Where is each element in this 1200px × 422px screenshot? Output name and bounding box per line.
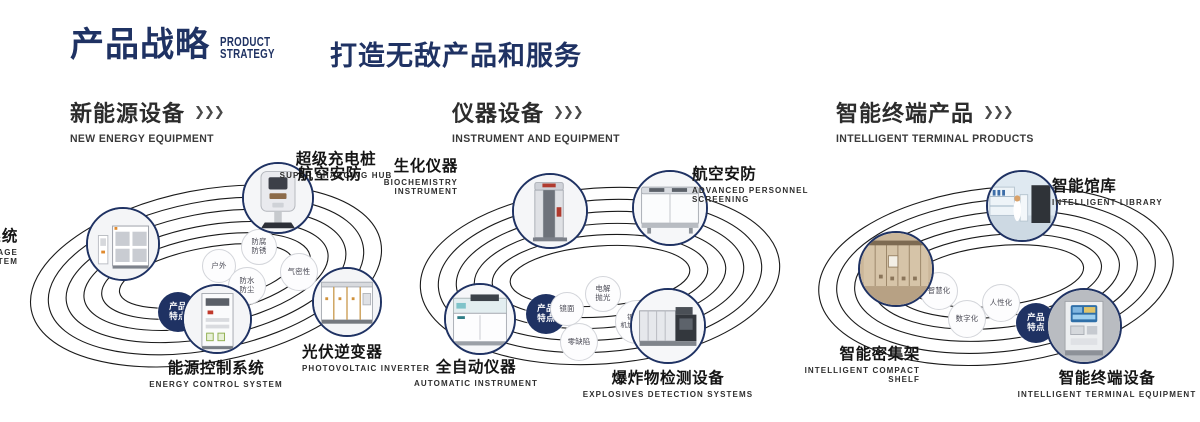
library-interior-icon [988,172,1056,240]
label-automatic-instrument: 全自动仪器 AUTOMATIC INSTRUMENT [391,355,561,388]
compact-shelf-icon [860,233,932,305]
label-explosives-detection-systems: 爆炸物检测设备 EXPLOSIVES DETECTION SYSTEMS [568,366,768,399]
section-title-new-energy: 新能源设备 ❯❯❯ NEW ENERGY EQUIPMENT [70,96,224,145]
node-photovoltaic-inverter[interactable] [312,267,382,337]
section-title-cn: 仪器设备 [452,96,544,128]
feature-bubble-electropolishing: 电解 抛光 [585,276,621,312]
label-intelligent-library: 智能馆库 INTELLIGENT LIBRARY [1052,174,1200,207]
node-automatic-instrument[interactable] [444,283,516,355]
core-line2: 特点 [1027,323,1045,333]
feature-bubble-mirror: 镜面 [550,292,584,326]
feature-bubble-anticorrosion: 防腐 防锈 [241,229,277,265]
feature-bubble-zero-defect: 零缺陷 [560,323,598,361]
section-title-cn: 智能终端产品 [836,96,974,128]
energy-storage-cabinet-icon [88,209,158,279]
page-title-en: PRODUCT STRATEGY [220,37,314,60]
explosives-detector-icon [632,290,704,362]
self-service-kiosk-icon [1048,290,1120,362]
chevrons-right-icon: ❯❯❯ [553,104,583,120]
security-gate-icon [514,175,586,247]
inverter-cabinet-icon [314,269,380,335]
label-intelligent-terminal-equipment: 智能终端设备 INTELLIGENT TERMINAL EQUIPMENT [1012,366,1200,399]
section-title-en: INSTRUMENT AND EQUIPMENT [452,133,620,145]
node-biochemistry-instrument[interactable] [512,173,588,249]
control-cabinet-icon [184,286,250,352]
section-title-instrument: 仪器设备 ❯❯❯ INSTRUMENT AND EQUIPMENT [452,96,620,145]
section-title-cn: 新能源设备 [70,96,185,128]
node-energy-control-system[interactable] [182,284,252,354]
page-title-cn: 产品战略 [70,28,210,62]
automatic-analyzer-icon [446,285,514,353]
chevrons-right-icon: ❯❯❯ [194,104,224,120]
node-intelligent-terminal-equipment[interactable] [1046,288,1122,364]
core-line1: 产品 [1027,313,1045,323]
node-intelligent-library[interactable] [986,170,1058,242]
section-title-en: INTELLIGENT TERMINAL PRODUCTS [836,133,1034,145]
chevrons-right-icon: ❯❯❯ [983,104,1013,120]
poster-canvas: 产品战略 PRODUCT STRATEGY 打造无敌产品和服务 新能源设备 ❯❯… [0,0,1200,422]
section-title-en: NEW ENERGY EQUIPMENT [70,133,224,145]
section-title-intelligent-terminal: 智能终端产品 ❯❯❯ INTELLIGENT TERMINAL PRODUCTS [836,96,1034,145]
page-title: 产品战略 PRODUCT STRATEGY [70,28,340,62]
page-title-en-line2: STRATEGY [220,49,314,61]
node-explosives-detection-systems[interactable] [630,288,706,364]
label-aviation-security-left: 航空安防 [268,162,362,184]
feature-bubble-humanized: 人性化 [982,284,1020,322]
label-energy-control-system: 能源控制系统 ENERGY CONTROL SYSTEM [116,356,316,389]
label-biochemistry-instrument: 生化仪器 BIOCHEMISTRY INSTRUMENT [358,154,458,196]
cluster-new-energy: 产品 特点 户外 防腐 防锈 气密性 防水 防尘 [10,148,410,418]
feature-bubble-airtight: 气密性 [280,253,318,291]
page-subtitle: 打造无敌产品和服务 [330,34,582,73]
node-energy-storage-system[interactable] [86,207,160,281]
cluster-intelligent-terminal: 产品 特点 智慧化 数字化 人性化 [800,148,1200,418]
label-intelligent-compact-shelf: 智能密集架 INTELLIGENT COMPACT SHELF [760,342,920,384]
feature-bubble-digital: 数字化 [948,300,986,338]
node-intelligent-compact-shelf[interactable] [858,231,934,307]
label-energy-storage-system: 储能系统 ENERGY STORAGE SYSTEM [0,224,18,266]
cluster-instrument: 产品 特点 镜面 电解 抛光 钣金与 机加工结合 零缺陷 [400,148,800,418]
